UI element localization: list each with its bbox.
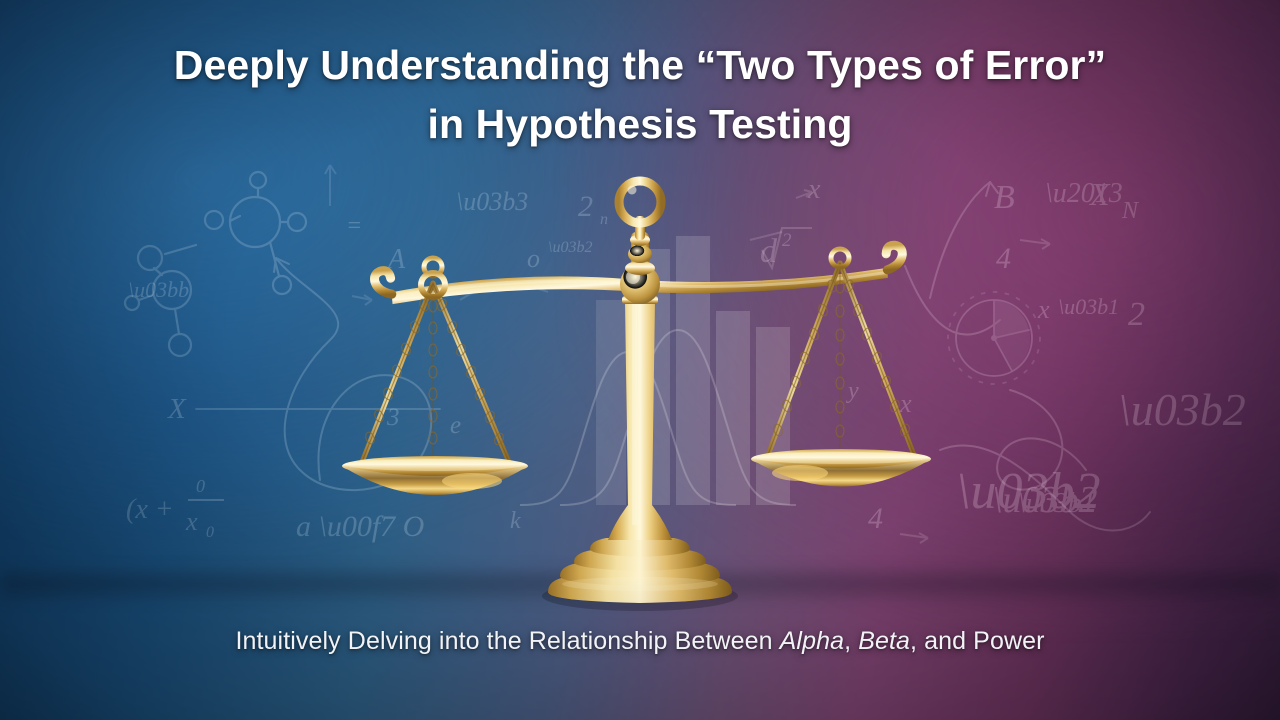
presentation-slide: X A = o \u03b2 \u03b3 2 n 3 e (x + 0 x 0… <box>0 0 1280 720</box>
subtitle-term-beta: Beta <box>858 627 910 655</box>
subtitle-term-alpha: Alpha <box>780 627 844 655</box>
subtitle: Intuitively Delving into the Relationshi… <box>0 627 1280 656</box>
page-title-line-2: in Hypothesis Testing <box>0 95 1280 154</box>
page-title-line-1: Deeply Understanding the “Two Types of E… <box>0 36 1280 95</box>
subtitle-separator-1: , <box>844 627 858 655</box>
title-block: Deeply Understanding the “Two Types of E… <box>0 36 1280 153</box>
subtitle-part-1: Intuitively Delving into the Relationshi… <box>235 627 779 655</box>
subtitle-part-2: , and Power <box>910 627 1045 655</box>
